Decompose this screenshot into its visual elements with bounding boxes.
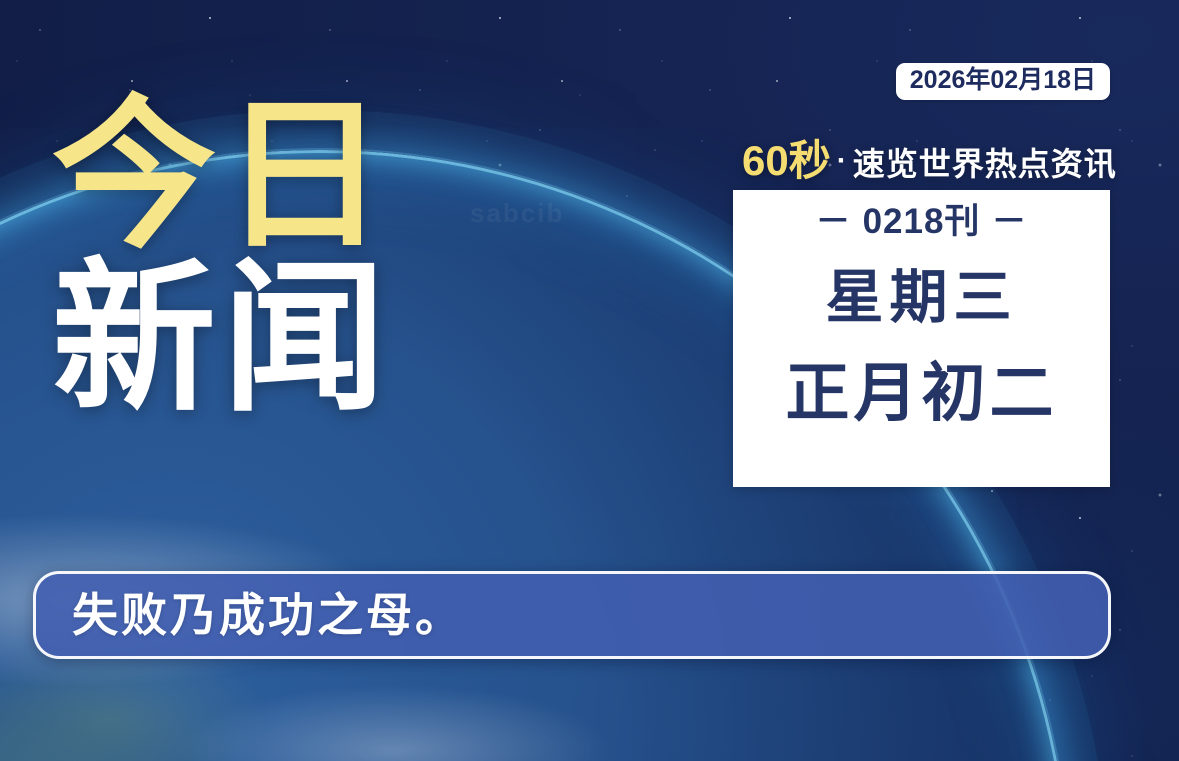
issue-dash-left: － (805, 202, 863, 241)
title-line-jinri: 今日 (52, 96, 392, 257)
date-badge: 2026年02月18日 (896, 63, 1110, 100)
poster-title: 今日 新闻 (52, 96, 392, 419)
tagline-description: 速览世界热点资讯 (853, 146, 1117, 182)
news-poster: sabcib 2026年02月18日 今日 新闻 60秒·速览世界热点资讯 －0… (0, 0, 1179, 761)
tagline: 60秒·速览世界热点资讯 (742, 140, 1117, 182)
issue-dash-right: － (980, 202, 1038, 241)
tagline-separator: · (831, 144, 853, 177)
quote-bar: 失败乃成功之母。 (33, 571, 1111, 659)
lunar-date-label: 正月初二 (786, 361, 1058, 425)
quote-text: 失败乃成功之母。 (36, 592, 464, 638)
issue-row: －0218刊－ (805, 204, 1039, 239)
title-line-xinwen: 新闻 (52, 259, 392, 420)
date-info-card: －0218刊－ 星期三 正月初二 (733, 190, 1110, 487)
issue-number: 0218刊 (863, 202, 981, 241)
weekday-label: 星期三 (825, 269, 1017, 327)
tagline-seconds: 60秒 (742, 137, 831, 184)
watermark-text: sabcib (470, 198, 564, 229)
